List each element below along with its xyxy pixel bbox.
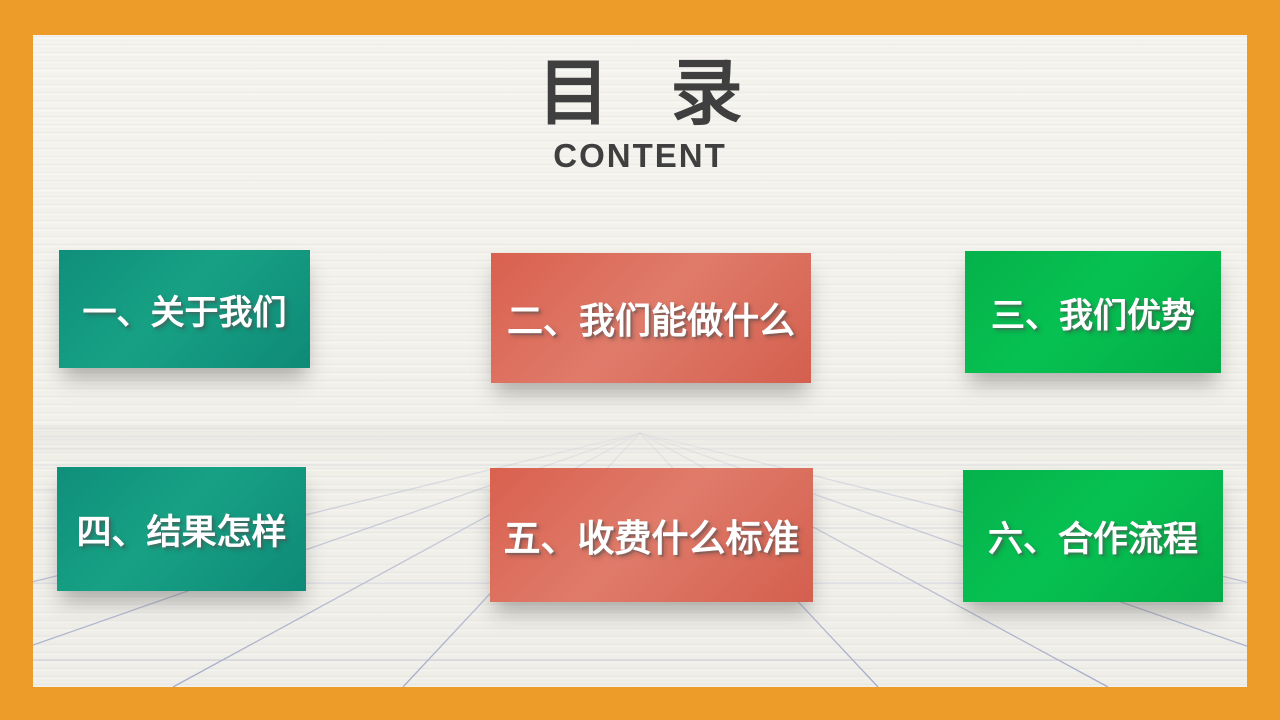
agenda-item-1-label: 一、关于我们 <box>83 285 287 334</box>
agenda-item-3[interactable]: 三、我们优势 <box>965 251 1221 373</box>
page-heading: 目 录 CONTENT <box>33 55 1247 175</box>
agenda-item-5-label: 五、收费什么标准 <box>504 508 800 562</box>
horizon-shading <box>33 425 1247 465</box>
agenda-item-3-label: 三、我们优势 <box>991 288 1195 337</box>
page-title: 目 录 <box>33 55 1247 133</box>
agenda-item-4[interactable]: 四、结果怎样 <box>57 467 306 591</box>
agenda-item-6[interactable]: 六、合作流程 <box>963 470 1223 602</box>
agenda-item-2[interactable]: 二、我们能做什么 <box>491 253 811 383</box>
agenda-item-2-label: 二、我们能做什么 <box>507 292 795 344</box>
agenda-item-1[interactable]: 一、关于我们 <box>59 250 310 368</box>
slide-inner-panel: 目 录 CONTENT 一、关于我们 二、我们能做什么 三、我们优势 四、结果怎… <box>33 35 1247 687</box>
slide-canvas: 目 录 CONTENT 一、关于我们 二、我们能做什么 三、我们优势 四、结果怎… <box>0 0 1280 720</box>
agenda-item-6-label: 六、合作流程 <box>988 511 1198 562</box>
agenda-item-4-label: 四、结果怎样 <box>76 504 286 555</box>
agenda-item-5[interactable]: 五、收费什么标准 <box>490 468 813 602</box>
page-subtitle: CONTENT <box>33 137 1247 175</box>
